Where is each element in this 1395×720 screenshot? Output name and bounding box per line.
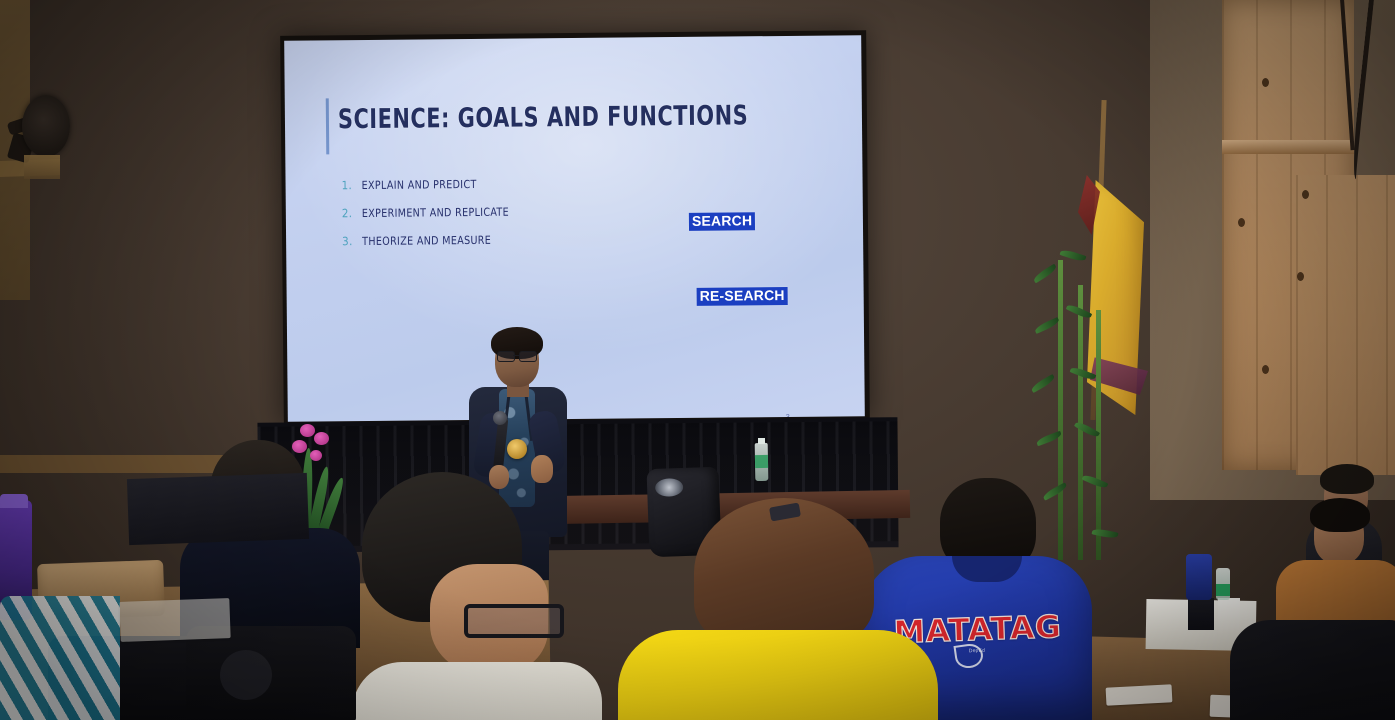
list-item: 2. EXPERIMENT AND REPLICATE <box>342 203 672 220</box>
attendee-yellow-jacket-hair <box>694 498 874 648</box>
list-item-number: 1. <box>342 178 362 192</box>
wood-panel-seam <box>1222 140 1354 154</box>
blue-bottle <box>1186 554 1212 600</box>
wood-knot-icon <box>1238 218 1245 227</box>
chair <box>186 626 356 720</box>
wood-knot-icon <box>1262 78 1269 87</box>
orchid-flower-icon <box>300 424 315 437</box>
stage-light-lens-icon <box>655 478 684 497</box>
wood-knot-icon <box>1262 365 1269 374</box>
medal-icon <box>507 439 527 459</box>
wood-panel-secondary <box>1296 175 1395 475</box>
wood-knot-icon <box>1302 190 1309 199</box>
list-item-label: EXPLAIN AND PREDICT <box>362 178 477 192</box>
attendee-right-foreground <box>1230 620 1395 720</box>
highlight-research: RE-SEARCH <box>697 287 788 306</box>
list-item: 1. EXPLAIN AND PREDICT <box>342 175 672 192</box>
table-papers <box>119 598 230 642</box>
wall-fan-icon <box>8 95 70 175</box>
attendee-left-striped <box>0 596 120 720</box>
list-item-label: EXPERIMENT AND REPLICATE <box>362 206 509 220</box>
slide-title: SCIENCE: GOALS AND FUNCTIONS <box>338 100 749 135</box>
dark-cup <box>1188 598 1214 630</box>
highlight-search: SEARCH <box>689 212 755 230</box>
equipment-case <box>127 473 309 545</box>
slide-bullet-list: 1. EXPLAIN AND PREDICT 2. EXPERIMENT AND… <box>342 175 673 262</box>
list-item: 3. THEORIZE AND MEASURE <box>342 231 672 248</box>
water-bottle-green-label <box>1216 584 1230 596</box>
list-item-number: 3. <box>342 234 362 248</box>
list-item-label: THEORIZE AND MEASURE <box>362 234 491 248</box>
title-accent-rule <box>326 98 330 154</box>
water-bottle-stage-label <box>755 455 768 468</box>
glasses-icon <box>497 351 537 360</box>
wood-knot-icon <box>1297 272 1304 281</box>
water-bottle-purple-cap <box>0 494 28 508</box>
water-bottle-stage-cap <box>758 438 765 444</box>
handout-paper <box>1106 684 1173 705</box>
presentation-photo: SCIENCE: GOALS AND FUNCTIONS 1. EXPLAIN … <box>0 0 1395 720</box>
list-item-number: 2. <box>342 206 362 220</box>
bamboo-plant <box>1030 230 1150 560</box>
attendee-center-left <box>352 472 562 720</box>
attendee-yellow-jacket-body <box>618 630 938 720</box>
